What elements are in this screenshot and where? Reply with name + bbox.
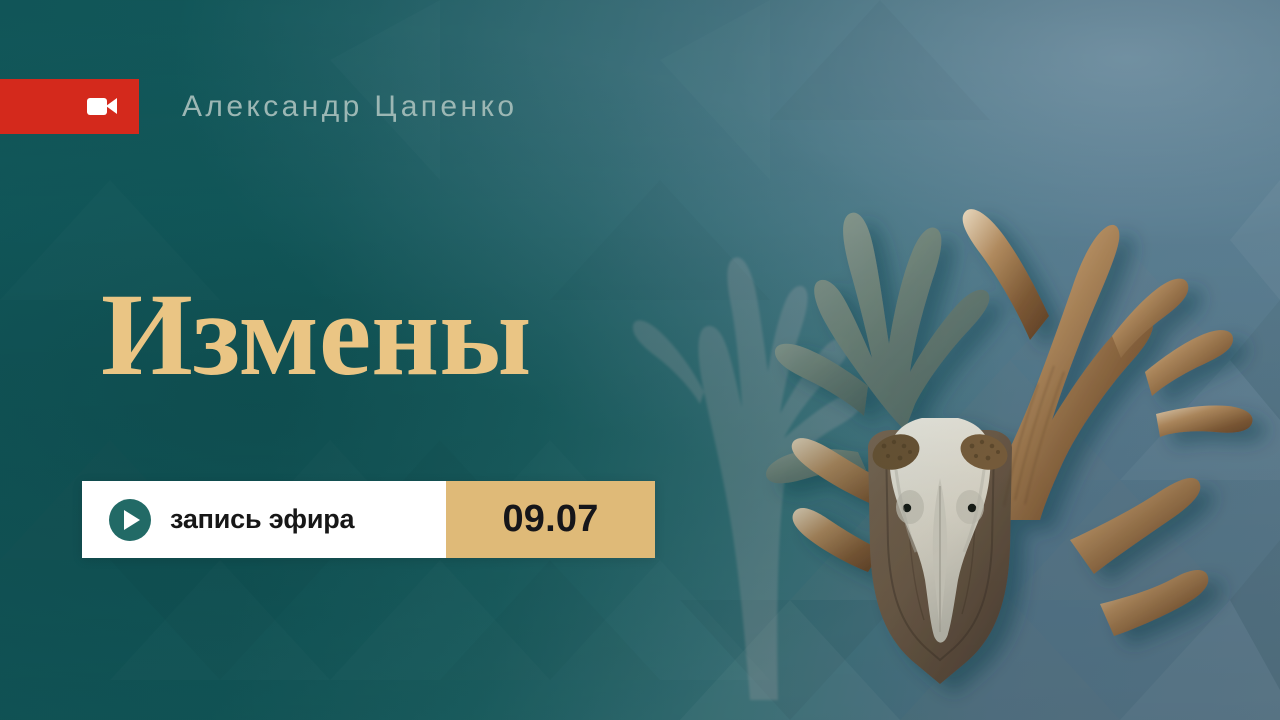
recording-badge[interactable]: запись эфира 09.07: [82, 481, 655, 558]
speaker-name: Александр Цапенко: [182, 85, 517, 129]
play-icon[interactable]: [109, 499, 151, 541]
video-brand-chip: [0, 79, 139, 134]
recording-badge-label: запись эфира: [170, 504, 354, 535]
video-camera-icon: [87, 97, 117, 116]
recording-badge-date-section: 09.07: [446, 481, 655, 558]
recording-date: 09.07: [502, 498, 598, 541]
recording-badge-label-section: запись эфира: [82, 481, 446, 558]
slide-title: Измены: [101, 276, 531, 394]
video-thumbnail-slide: Александр Цапенко Измены запись эфира 09…: [0, 0, 1280, 720]
